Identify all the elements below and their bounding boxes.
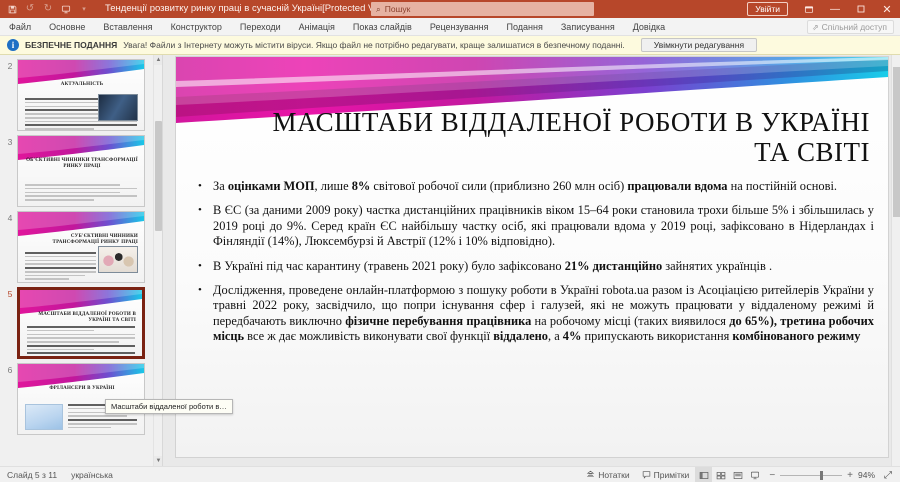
bullet-text: В ЄС (за даними 2009 року) частка дистан… xyxy=(213,203,874,249)
thumbnail-number: 4 xyxy=(3,211,17,223)
scroll-up-icon[interactable]: ▲ xyxy=(154,55,163,65)
tab-file[interactable]: Файл xyxy=(0,18,40,36)
thumbnail-slide-3[interactable]: ОБ'ЄКТИВНІ ЧИННИКИ ТРАНСФОРМАЦІЇ РИНКУ П… xyxy=(17,135,145,207)
tab-slideshow[interactable]: Показ слайдів xyxy=(344,18,421,36)
thumbnail-picture xyxy=(98,246,138,273)
notes-label: Нотатки xyxy=(598,470,629,480)
bullet-item: • За оцінками МОП, лише 8% світової робо… xyxy=(198,179,874,194)
bullet-text: За оцінками МОП, лише 8% світової робочо… xyxy=(213,179,874,194)
restore-button[interactable] xyxy=(848,0,874,18)
tab-recording[interactable]: Записування xyxy=(552,18,624,36)
save-icon[interactable] xyxy=(4,2,20,17)
thumbnail-title: СУБ'ЄКТИВНІ ЧИННИКИ ТРАНСФОРМАЦІЇ РИНКУ … xyxy=(26,234,138,247)
info-icon: i xyxy=(7,39,19,51)
search-icon: ⌕ xyxy=(376,4,381,15)
thumbnail-canvas: МАСШТАБИ ВІДДАЛЕНОЇ РОБОТИ В УКРАЇНІ ТА … xyxy=(20,290,142,356)
status-bar: Слайд 5 з 11 українська Нотатки Примітки xyxy=(0,466,900,482)
tab-insert[interactable]: Вставлення xyxy=(94,18,161,36)
slide-title: МАСШТАБИ ВІДДАЛЕНОЇ РОБОТИ В УКРАЇНІ ТА … xyxy=(270,107,870,167)
normal-view-button[interactable] xyxy=(695,467,712,482)
thumbnail-body xyxy=(25,184,137,201)
minimize-button[interactable]: — xyxy=(822,0,848,18)
zoom-slider[interactable] xyxy=(780,475,842,476)
bullet-text: Дослідження, проведене онлайн-платформою… xyxy=(213,283,874,345)
thumbnail-canvas: АКТУАЛЬНІСТЬ xyxy=(18,60,144,130)
slide-scrollbar[interactable] xyxy=(891,55,900,466)
zoom-in-button[interactable]: + xyxy=(847,470,853,481)
thumbnail-item[interactable]: 3 ОБ'ЄКТИВНІ ЧИННИКИ ТРАНСФОРМАЦІЇ РИНКУ… xyxy=(0,131,162,207)
thumbnail-title: МАСШТАБИ ВІДДАЛЕНОЇ РОБОТИ В УКРАЇНІ ТА … xyxy=(28,312,136,325)
undo-icon[interactable]: ↺ xyxy=(22,2,38,17)
comment-icon xyxy=(642,470,651,481)
thumbnail-slide-5[interactable]: МАСШТАБИ ВІДДАЛЕНОЇ РОБОТИ В УКРАЇНІ ТА … xyxy=(17,287,145,359)
slide-sorter-button[interactable] xyxy=(712,467,729,482)
search-input[interactable]: ⌕ Пошук xyxy=(371,2,594,16)
bullet-dot: • xyxy=(198,283,206,345)
thumbnail-body xyxy=(27,326,135,351)
thumbnail-number: 5 xyxy=(3,287,17,299)
thumbnail-item[interactable]: 6 ФРІЛАНСЕРИ В УКРАЇНІ xyxy=(0,359,162,435)
banner-title: БЕЗПЕЧНЕ ПОДАННЯ xyxy=(25,40,117,50)
protected-view-banner: i БЕЗПЕЧНЕ ПОДАННЯ Увага! Файли з Інтерн… xyxy=(0,36,900,55)
tab-help[interactable]: Довідка xyxy=(624,18,674,36)
thumbnail-title: ОБ'ЄКТИВНІ ЧИННИКИ ТРАНСФОРМАЦІЇ РИНКУ П… xyxy=(26,158,138,171)
bullet-item: • Дослідження, проведене онлайн-платформ… xyxy=(198,283,874,345)
search-placeholder: Пошук xyxy=(385,4,411,14)
ribbon-display-options-icon[interactable] xyxy=(796,0,822,18)
slideshow-button[interactable] xyxy=(746,467,763,482)
title-bar: ↺ ↻ ▾ Тенденції розвитку ринку праці в с… xyxy=(0,0,900,18)
reading-view-button[interactable] xyxy=(729,467,746,482)
redo-icon[interactable]: ↻ xyxy=(40,2,56,17)
tab-design[interactable]: Конструктор xyxy=(162,18,231,36)
share-icon: ⇗ xyxy=(812,23,819,32)
tab-transitions[interactable]: Переходи xyxy=(231,18,290,36)
thumbnail-item-active[interactable]: 5 МАСШТАБИ ВІДДАЛЕНОЇ РОБОТИ В УКРАЇНІ Т… xyxy=(0,283,162,359)
thumbnail-item[interactable]: 4 СУБ'ЄКТИВНІ ЧИННИКИ ТРАНСФОРМАЦІЇ РИНК… xyxy=(0,207,162,283)
tab-home[interactable]: Основне xyxy=(40,18,94,36)
thumbnail-item[interactable]: 2 АКТУ xyxy=(0,55,162,131)
zoom-level[interactable]: 94% xyxy=(858,470,880,480)
slide-stage: МАСШТАБИ ВІДДАЛЕНОЇ РОБОТИ В УКРАЇНІ ТА … xyxy=(163,55,900,466)
thumbnail-slide-2[interactable]: АКТУАЛЬНІСТЬ xyxy=(17,59,145,131)
thumbnail-picture xyxy=(98,94,138,121)
notes-icon xyxy=(586,470,595,481)
tab-animations[interactable]: Анімація xyxy=(290,18,344,36)
bullet-dot: • xyxy=(198,179,206,194)
share-button[interactable]: ⇗ Спільний доступ xyxy=(807,20,894,34)
thumbnail-title: АКТУАЛЬНІСТЬ xyxy=(26,82,138,88)
quick-access-toolbar: ↺ ↻ ▾ xyxy=(0,2,92,17)
powerpoint-window: ↺ ↻ ▾ Тенденції розвитку ринку праці в с… xyxy=(0,0,900,482)
scroll-down-icon[interactable]: ▼ xyxy=(154,456,163,466)
thumbnail-slide-4[interactable]: СУБ'ЄКТИВНІ ЧИННИКИ ТРАНСФОРМАЦІЇ РИНКУ … xyxy=(17,211,145,283)
tab-view[interactable]: Подання xyxy=(498,18,552,36)
fit-to-window-icon[interactable]: ⤢ xyxy=(880,470,896,481)
language-indicator[interactable]: українська xyxy=(64,470,120,480)
tab-review[interactable]: Рецензування xyxy=(421,18,498,36)
slide-body: • За оцінками МОП, лише 8% світової робо… xyxy=(198,179,874,353)
banner-message: Увага! Файли з Інтернету можуть містити … xyxy=(123,40,625,50)
workspace: 2 АКТУ xyxy=(0,55,900,466)
thumbnail-title: ФРІЛАНСЕРИ В УКРАЇНІ xyxy=(26,386,138,392)
status-bar-right: Нотатки Примітки − xyxy=(580,467,896,482)
zoom-slider-handle[interactable] xyxy=(820,471,823,480)
bullet-item: • В Україні під час карантину (травень 2… xyxy=(198,259,874,274)
thumbnail-picture xyxy=(25,404,63,430)
bullet-dot: • xyxy=(198,259,206,274)
thumbnail-number: 3 xyxy=(3,135,17,147)
enable-editing-button[interactable]: Увімкнути редагування xyxy=(641,38,757,52)
sign-in-button[interactable]: Увійти xyxy=(747,2,788,16)
thumbnail-canvas: СУБ'ЄКТИВНІ ЧИННИКИ ТРАНСФОРМАЦІЇ РИНКУ … xyxy=(18,212,144,282)
title-bar-right: Увійти — ✕ xyxy=(747,0,900,18)
slide-counter[interactable]: Слайд 5 з 11 xyxy=(0,470,64,480)
customize-qat-icon[interactable]: ▾ xyxy=(76,2,92,17)
thumbnail-body xyxy=(25,252,96,277)
start-presentation-icon[interactable] xyxy=(58,2,74,17)
notes-button[interactable]: Нотатки xyxy=(580,467,635,482)
bullet-dot: • xyxy=(198,203,206,249)
thumbnail-scroll-handle[interactable] xyxy=(155,121,162,231)
current-slide[interactable]: МАСШТАБИ ВІДДАЛЕНОЇ РОБОТИ В УКРАЇНІ ТА … xyxy=(176,57,888,457)
zoom-out-button[interactable]: − xyxy=(769,470,775,481)
bullet-item: • В ЄС (за даними 2009 року) частка дист… xyxy=(198,203,874,249)
slide-scroll-handle[interactable] xyxy=(893,67,900,217)
thumbnail-tooltip: Масштаби віддаленої роботи в… xyxy=(105,399,233,414)
thumbnail-number: 2 xyxy=(3,59,17,71)
bullet-text: В Україні під час карантину (травень 202… xyxy=(213,259,874,274)
thumbnail-number: 6 xyxy=(3,363,17,375)
zoom-control[interactable]: − + 94% xyxy=(763,470,880,481)
share-label: Спільний доступ xyxy=(822,22,887,32)
ribbon-tab-bar: Файл Основне Вставлення Конструктор Пере… xyxy=(0,18,900,36)
thumbnail-canvas: ОБ'ЄКТИВНІ ЧИННИКИ ТРАНСФОРМАЦІЇ РИНКУ П… xyxy=(18,136,144,206)
comments-button[interactable]: Примітки xyxy=(636,467,696,482)
close-button[interactable]: ✕ xyxy=(874,0,900,18)
comments-label: Примітки xyxy=(654,470,690,480)
